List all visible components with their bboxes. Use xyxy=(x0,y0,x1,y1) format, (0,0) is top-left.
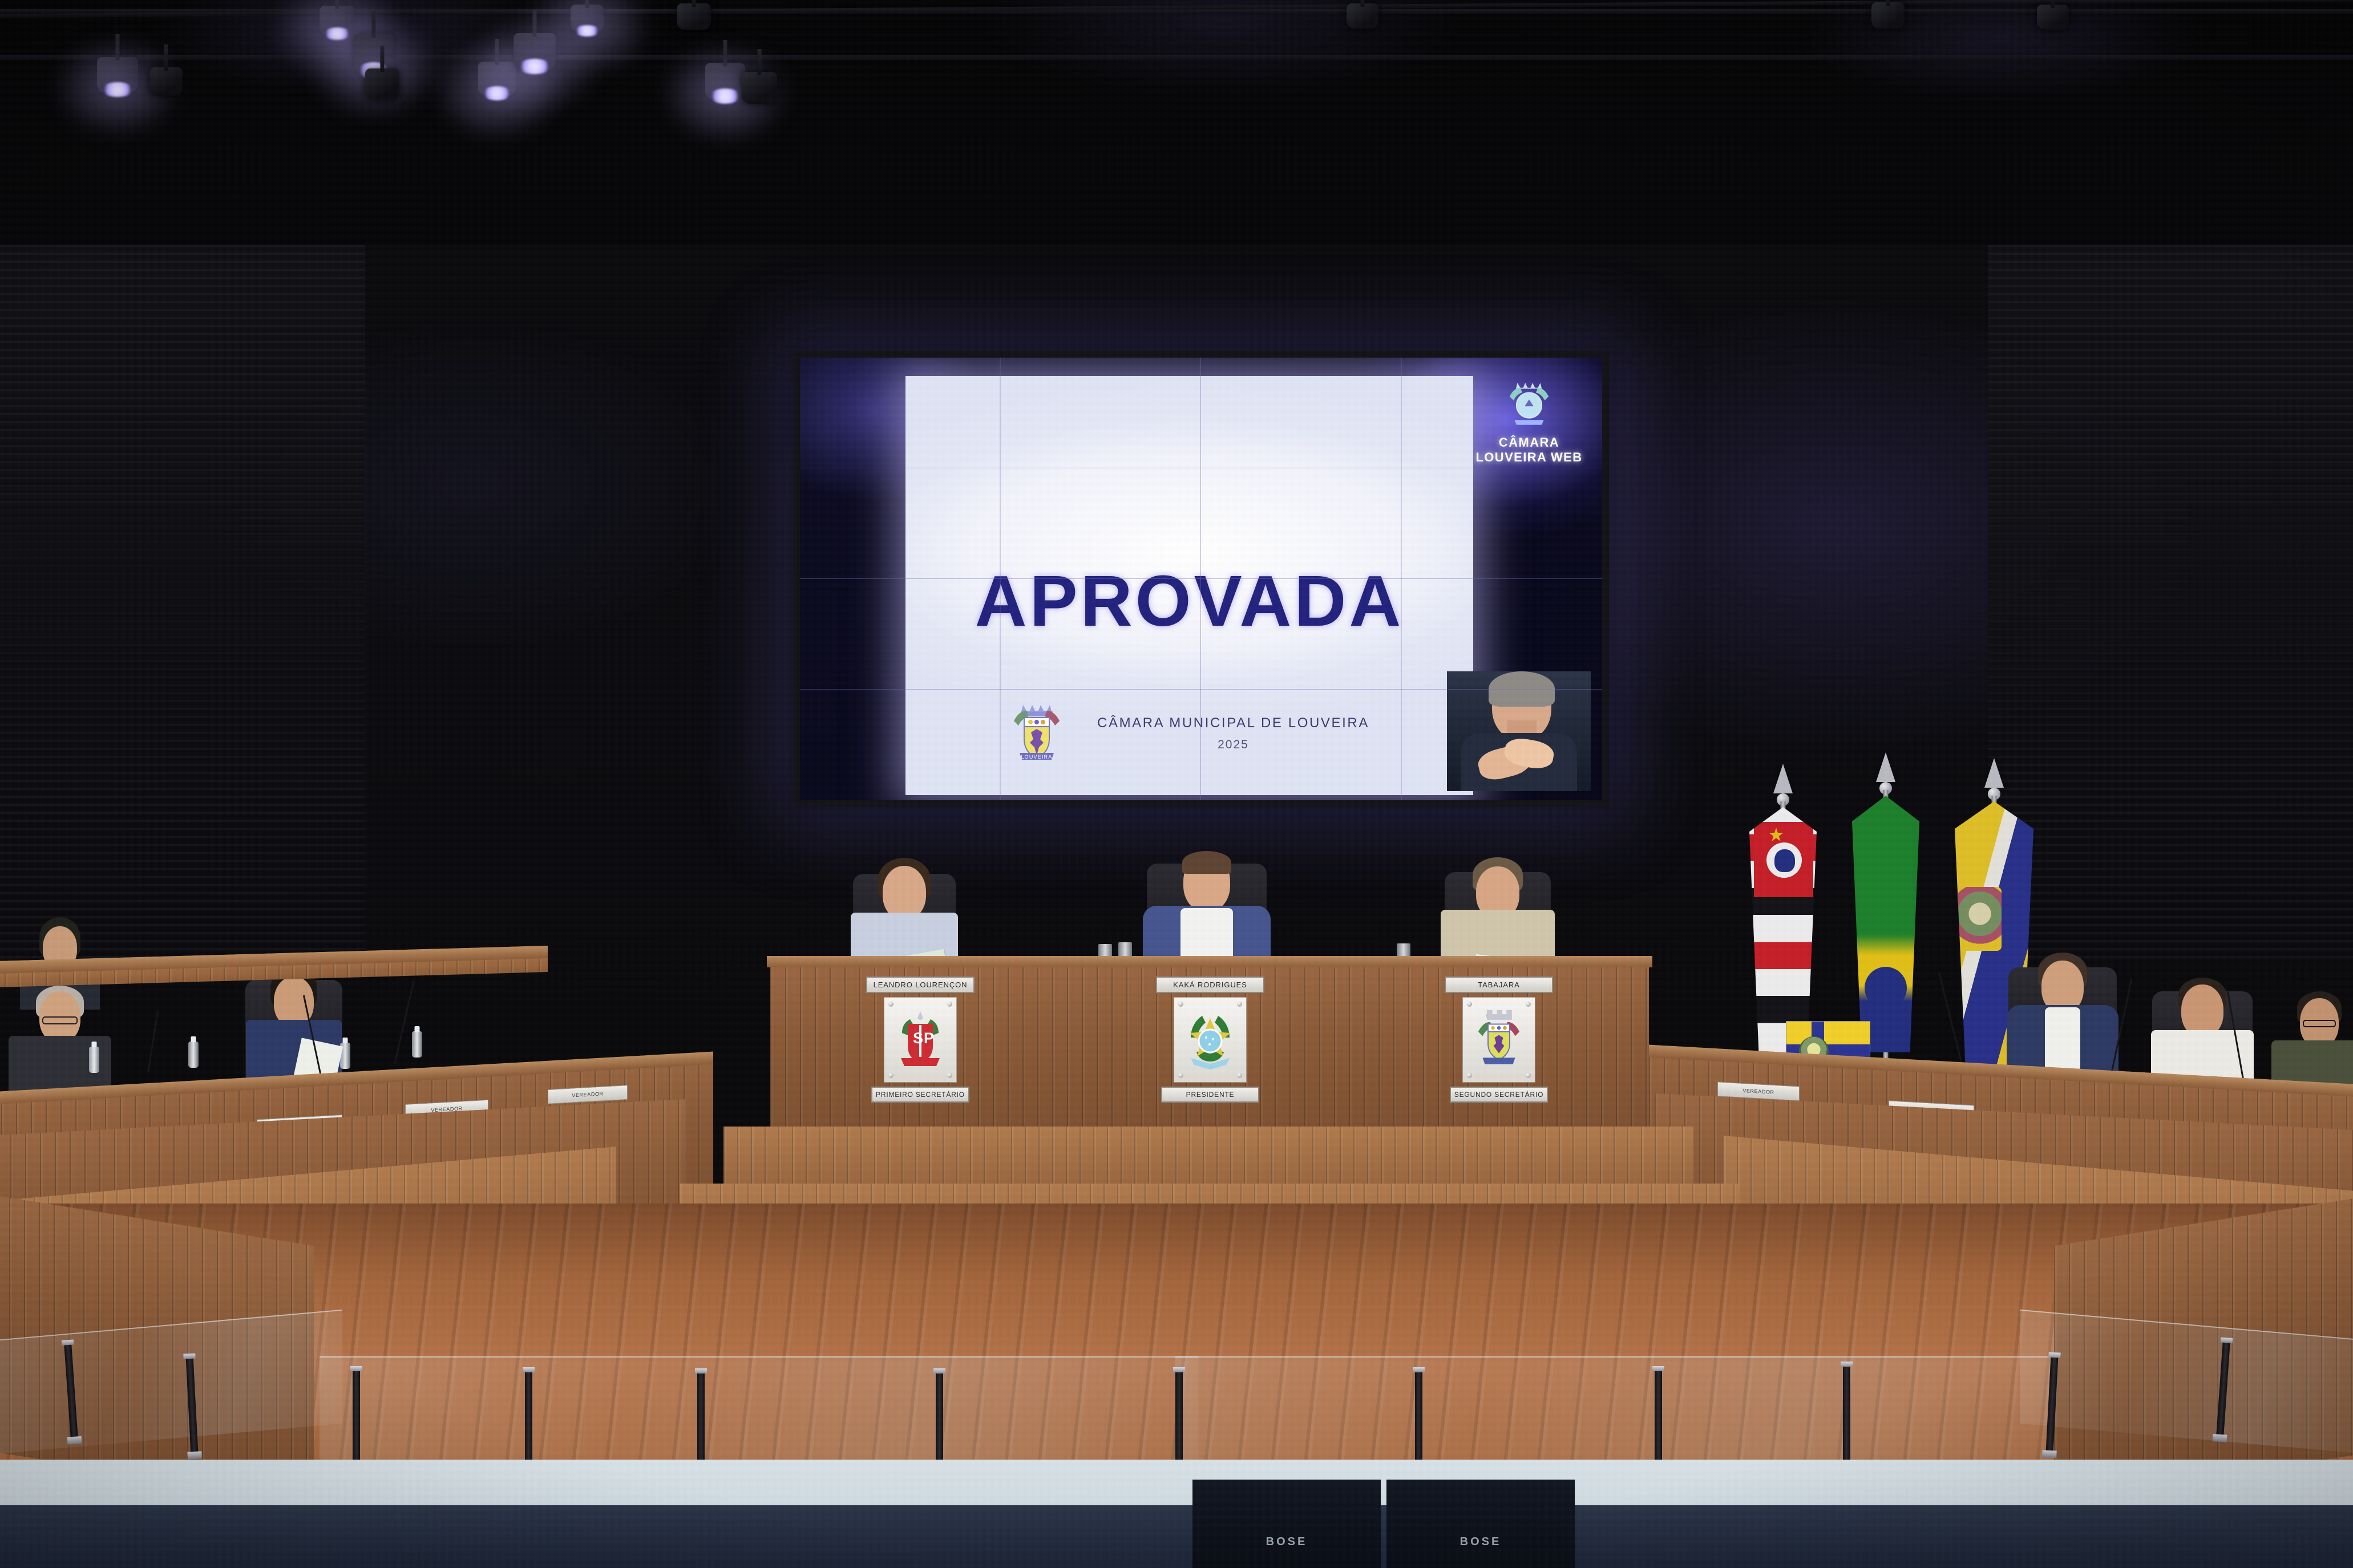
slide-aprovada: APROVADA xyxy=(905,376,1473,795)
roleplate-segundo-secretario: SEGUNDO SECRETÁRIO xyxy=(1450,1087,1548,1103)
plaque-group-primeiro-secretario: LEANDRO LOURENÇON S P PRIMEIRO SECRETÁRI… xyxy=(866,977,975,1103)
roleplate-primeiro-secretario: PRIMEIRO SECRETÁRIO xyxy=(871,1087,969,1103)
stage-light-fixture xyxy=(742,72,777,104)
sanitizer-bottle xyxy=(188,1042,199,1068)
mesa-diretora: LEANDRO LOURENÇON S P PRIMEIRO SECRETÁRI… xyxy=(770,964,1649,1135)
plaque-group-segundo-secretario: TABAJARA SEGUNDO SECRETÁRIO xyxy=(1445,977,1553,1103)
rail-post xyxy=(1843,1366,1850,1462)
stage-light-fixture xyxy=(97,57,138,92)
left-nameplate-4[interactable]: VEREADOR xyxy=(548,1085,628,1104)
water-bottle xyxy=(412,1031,422,1058)
channel-logo-line-1: CÂMARA xyxy=(1472,435,1586,450)
channel-crest-icon xyxy=(1472,377,1586,431)
louveira-crest-icon: LOUVEIRA xyxy=(1009,698,1064,769)
stage-light-fixture xyxy=(365,68,399,100)
crest-sao-paulo: S P xyxy=(884,997,957,1083)
channel-logo-line-2: LOUVEIRA WEB xyxy=(1472,450,1586,465)
stage-light-fixture xyxy=(320,6,355,35)
rail-post xyxy=(1175,1371,1183,1468)
rail-post xyxy=(353,1370,360,1467)
nameplate-presidente: KAKÁ RODRIGUES xyxy=(1156,977,1264,993)
left-bench-person-1 xyxy=(0,987,120,1095)
glasses-icon xyxy=(2303,1020,2336,1027)
stage-light-fixture xyxy=(571,5,604,32)
stage-light-fixture xyxy=(1871,2,1905,29)
svg-text:S: S xyxy=(913,1030,923,1047)
stage-light-fixture xyxy=(677,3,711,30)
crest-louveira xyxy=(1462,997,1535,1083)
stage-light-fixture xyxy=(514,33,556,70)
glasses-icon xyxy=(42,1016,78,1024)
nameplate-primeiro-secretario: LEANDRO LOURENÇON xyxy=(866,977,975,993)
slide-footer-line-1: CÂMARA MUNICIPAL DE LOUVEIRA xyxy=(1097,715,1369,731)
rail-post xyxy=(1655,1370,1662,1467)
stage-light-fixture xyxy=(2037,5,2069,30)
svg-text:LOUVEIRA: LOUVEIRA xyxy=(1021,754,1052,760)
bose-speaker-left: BOSE xyxy=(1192,1480,1381,1568)
truss-bar-mid xyxy=(0,55,2353,60)
video-wall[interactable]: APROVADA xyxy=(793,351,1609,807)
nameplate-segundo-secretario: TABAJARA xyxy=(1445,977,1553,993)
slide-headline: APROVADA xyxy=(905,560,1473,642)
bose-speaker-right: BOSE xyxy=(1386,1480,1575,1568)
channel-logo: CÂMARA LOUVEIRA WEB xyxy=(1472,377,1586,465)
svg-text:P: P xyxy=(924,1030,934,1047)
sanitizer-bottle xyxy=(89,1047,99,1073)
stage-light-fixture xyxy=(478,62,516,96)
torso-shirt xyxy=(2045,1007,2080,1076)
stage-light-fixture xyxy=(149,67,183,96)
libras-interpreter-inset xyxy=(1447,671,1591,791)
roleplate-presidente: PRESIDENTE xyxy=(1161,1087,1259,1103)
hair xyxy=(1182,851,1231,874)
rail-glass-panel xyxy=(1175,1356,2054,1462)
rail-post xyxy=(936,1372,943,1469)
rail-glass-panel xyxy=(320,1356,1198,1462)
slide-footer-line-2: 2025 xyxy=(1097,738,1369,752)
plaque-group-presidente: KAKÁ RODRIGUES xyxy=(1156,977,1264,1103)
acoustic-slat-panel-left xyxy=(0,245,365,964)
head xyxy=(883,866,926,919)
right-bench-person-1 xyxy=(1991,954,2134,1079)
stage-light-fixture xyxy=(1347,3,1378,29)
water-bottle xyxy=(340,1043,350,1069)
stage-light-fixture xyxy=(705,63,745,99)
acoustic-slat-panel-right xyxy=(1988,245,2353,964)
stage-apron xyxy=(0,1460,2353,1568)
rail-post xyxy=(525,1371,532,1468)
head xyxy=(2181,984,2223,1037)
dais-top-edge xyxy=(767,956,1652,967)
speaker-brand-label: BOSE xyxy=(1460,1535,1502,1549)
plenary-chamber-scene: APROVADA xyxy=(0,0,2353,1568)
rail-post xyxy=(697,1372,705,1469)
speaker-brand-label: BOSE xyxy=(1266,1535,1308,1549)
rail-post xyxy=(1415,1371,1422,1468)
crest-brasil xyxy=(1174,997,1247,1083)
